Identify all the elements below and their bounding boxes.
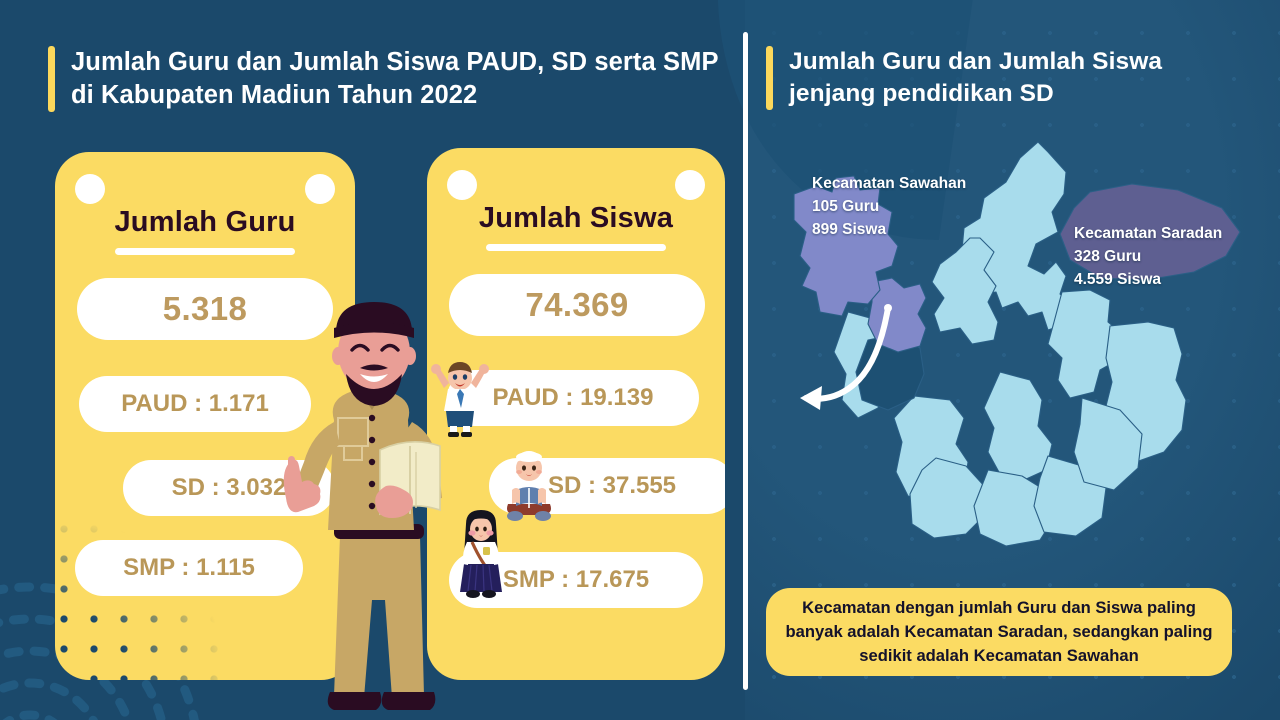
map-label-students: 899 Siswa	[812, 218, 966, 241]
district-region	[910, 458, 986, 538]
right-title-text: Jumlah Guru dan Jumlah Siswa jenjang pen…	[789, 46, 1246, 110]
map-label-students: 4.559 Siswa	[1074, 268, 1222, 291]
punch-hole-icon	[305, 174, 335, 204]
card-heading: Jumlah Siswa	[427, 202, 725, 235]
district-region	[984, 372, 1052, 480]
breakdown-label: SD : 37.555	[548, 472, 676, 500]
student-boy-illustration	[430, 358, 490, 438]
title-accent-bar	[766, 46, 773, 110]
left-panel-title: Jumlah Guru dan Jumlah Siswa PAUD, SD se…	[48, 46, 738, 112]
student-girl-illustration	[452, 508, 510, 600]
district-region	[932, 238, 998, 344]
map-label-name: Kecamatan Sawahan	[812, 172, 966, 195]
breakdown-label: SMP : 1.115	[123, 554, 255, 582]
total-value: 74.369	[525, 286, 628, 324]
map-footnote-banner: Kecamatan dengan jumlah Guru dan Siswa p…	[766, 588, 1232, 676]
vertical-divider	[743, 32, 748, 690]
total-value: 5.318	[163, 290, 248, 328]
footnote-text: Kecamatan dengan jumlah Guru dan Siswa p…	[782, 596, 1216, 668]
title-accent-bar	[48, 46, 55, 112]
left-title-text: Jumlah Guru dan Jumlah Siswa PAUD, SD se…	[71, 46, 738, 112]
right-panel-title: Jumlah Guru dan Jumlah Siswa jenjang pen…	[766, 46, 1246, 110]
breakdown-label: SMP : 17.675	[503, 566, 649, 594]
map-label-teachers: 328 Guru	[1074, 245, 1222, 268]
breakdown-label: PAUD : 19.139	[493, 384, 654, 412]
breakdown-label: SD : 3.032	[172, 474, 287, 502]
card-header: Jumlah Siswa	[427, 202, 725, 251]
breakdown-label: PAUD : 1.171	[121, 390, 269, 418]
punch-hole-icon	[447, 170, 477, 200]
breakdown-pill-smp: SMP : 1.115	[75, 540, 303, 596]
punch-hole-icon	[675, 170, 705, 200]
map-label-saradan: Kecamatan Saradan 328 Guru 4.559 Siswa	[1074, 222, 1222, 291]
callout-arrow-tail-icon	[884, 304, 892, 312]
map-label-teachers: 105 Guru	[812, 195, 966, 218]
map-label-name: Kecamatan Saradan	[1074, 222, 1222, 245]
map-label-sawahan: Kecamatan Sawahan 105 Guru 899 Siswa	[812, 172, 966, 241]
card-header: Jumlah Guru	[55, 206, 355, 255]
heading-underline	[486, 244, 666, 251]
infographic-canvas: Jumlah Guru dan Jumlah Siswa PAUD, SD se…	[0, 0, 1280, 720]
callout-arrowhead-icon	[800, 386, 822, 410]
heading-underline	[115, 248, 295, 255]
card-heading: Jumlah Guru	[55, 206, 355, 239]
punch-hole-icon	[75, 174, 105, 204]
